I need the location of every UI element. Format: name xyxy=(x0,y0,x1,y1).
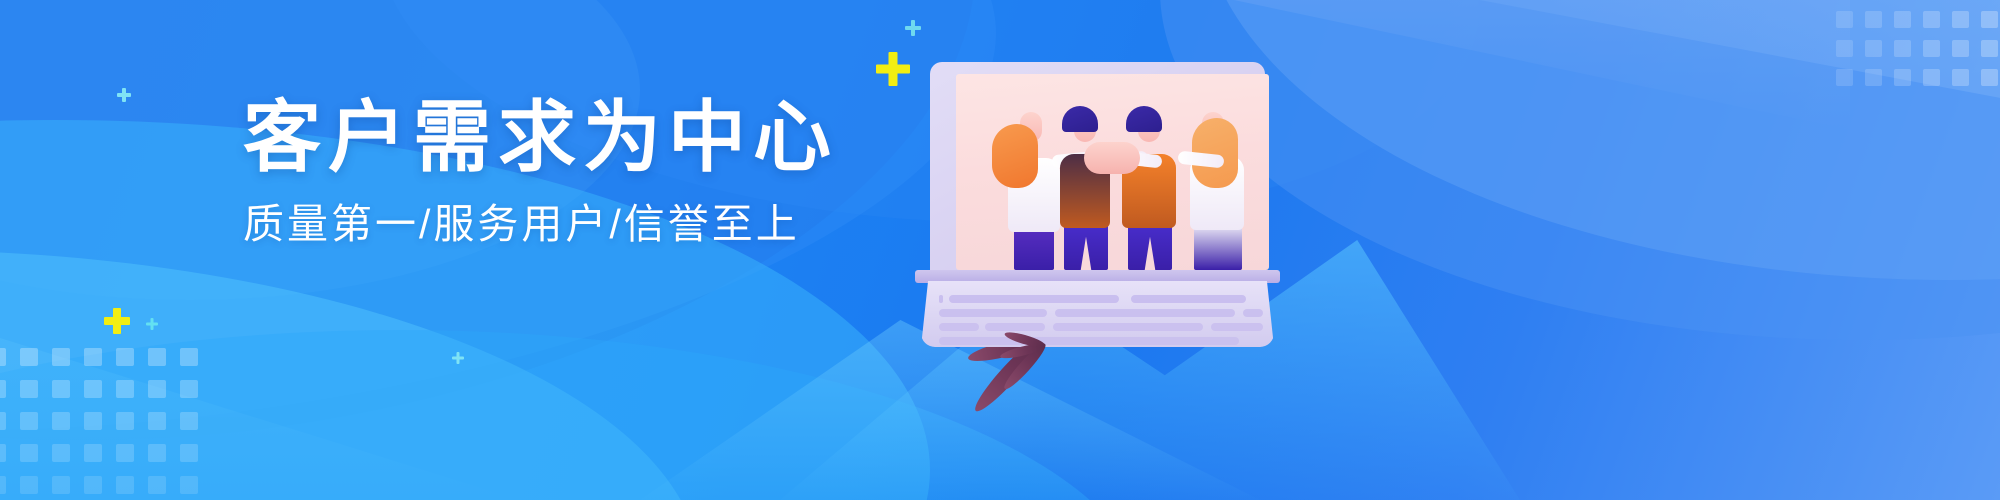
dot-grid-cell xyxy=(0,380,6,398)
dot-grid-bottom-left xyxy=(0,348,218,500)
dot-grid-cell xyxy=(1923,40,1940,57)
dot-grid-cell xyxy=(116,348,134,366)
dot-grid-cell xyxy=(116,476,134,494)
plus-cyan-small-top-icon xyxy=(905,20,921,36)
plus-cyan-mid-icon xyxy=(117,88,131,102)
promo-banner: 客户需求为中心 质量第一/服务用户/信誉至上 xyxy=(0,0,2000,500)
dot-grid-cell xyxy=(0,476,6,494)
dot-grid-cell xyxy=(148,380,166,398)
dot-grid-cell xyxy=(116,444,134,462)
dot-grid-top-right xyxy=(1836,0,2000,92)
dot-grid-cell xyxy=(52,412,70,430)
laptop-key xyxy=(1243,309,1263,317)
laptop-key xyxy=(1053,323,1203,331)
dot-grid-cell xyxy=(1836,11,1853,28)
dot-grid-cell xyxy=(84,444,102,462)
dot-grid-cell xyxy=(52,444,70,462)
dot-grid-cell xyxy=(180,380,198,398)
plus-cyan-dim-icon xyxy=(452,352,464,364)
dot-grid-cell xyxy=(0,444,6,462)
dot-grid-cell xyxy=(180,348,198,366)
dot-grid-cell xyxy=(1894,69,1911,86)
dot-grid-cell xyxy=(52,476,70,494)
dot-grid-cell xyxy=(20,444,38,462)
dot-grid-cell xyxy=(20,412,38,430)
dot-grid-cell xyxy=(20,380,38,398)
dot-grid-cell xyxy=(180,412,198,430)
dot-grid-cell xyxy=(148,444,166,462)
dot-grid-cell xyxy=(84,380,102,398)
dot-grid-cell xyxy=(148,476,166,494)
dot-grid-cell xyxy=(1952,11,1969,28)
dot-grid-cell xyxy=(148,348,166,366)
dot-grid-cell xyxy=(180,476,198,494)
dot-grid-cell xyxy=(84,412,102,430)
dot-grid-cell xyxy=(1981,69,1998,86)
headline-block: 客户需求为中心 质量第一/服务用户/信誉至上 xyxy=(243,98,863,245)
dot-grid-cell xyxy=(1865,11,1882,28)
dot-grid-cell xyxy=(20,476,38,494)
plus-yellow-small-left-icon xyxy=(104,308,130,334)
laptop-key xyxy=(1131,295,1246,303)
person-hair xyxy=(1062,106,1098,132)
dot-grid-cell xyxy=(0,348,6,366)
dot-grid-cell xyxy=(1894,11,1911,28)
dot-grid-cell xyxy=(180,444,198,462)
plus-yellow-large-icon xyxy=(876,52,910,86)
dot-grid-cell xyxy=(1894,40,1911,57)
dot-grid-cell xyxy=(1952,69,1969,86)
dot-grid-cell xyxy=(1923,69,1940,86)
dot-grid-cell xyxy=(1952,40,1969,57)
dot-grid-cell xyxy=(84,348,102,366)
dot-grid-cell xyxy=(148,412,166,430)
dot-grid-cell xyxy=(20,348,38,366)
laptop-key xyxy=(1055,309,1235,317)
page-subtitle: 质量第一/服务用户/信誉至上 xyxy=(243,204,863,245)
dot-grid-cell xyxy=(1981,11,1998,28)
leaf-decoration-front xyxy=(895,225,1045,350)
dot-grid-cell xyxy=(116,412,134,430)
dot-grid-cell xyxy=(1865,40,1882,57)
dot-grid-cell xyxy=(1836,40,1853,57)
laptop-key xyxy=(1211,323,1263,331)
page-title: 客户需求为中心 xyxy=(243,98,863,176)
dot-grid-cell xyxy=(1865,69,1882,86)
plus-cyan-tiny-left-icon xyxy=(146,318,158,330)
dot-grid-cell xyxy=(1836,69,1853,86)
dot-grid-cell xyxy=(52,380,70,398)
dot-grid-cell xyxy=(52,348,70,366)
dot-grid-cell xyxy=(116,380,134,398)
dot-grid-cell xyxy=(84,476,102,494)
dot-grid-cell xyxy=(1923,11,1940,28)
person-figure-4 xyxy=(1184,74,1244,270)
person-hair xyxy=(992,124,1038,188)
person-hair xyxy=(1126,106,1162,132)
stacked-hands xyxy=(1084,142,1140,174)
dot-grid-cell xyxy=(1981,40,1998,57)
dot-grid-cell xyxy=(0,412,6,430)
